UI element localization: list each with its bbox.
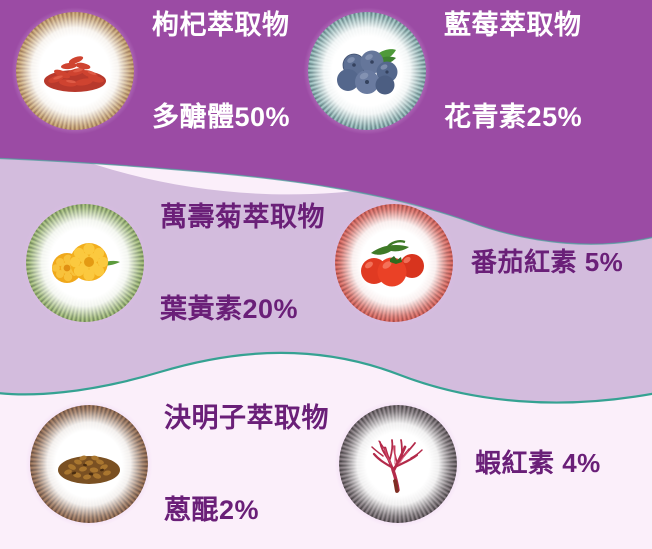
medallion-ring [339, 405, 457, 523]
ingredient-label-tomato: 番茄紅素 5% [471, 190, 623, 337]
blueberry-cluster-graphic [330, 41, 404, 101]
blueberries-icon [308, 12, 426, 130]
tomato-cluster-graphic [357, 233, 431, 293]
label-line-2: 花青素25% [444, 102, 582, 133]
goji-berries-icon [16, 12, 134, 130]
medallion-ring [308, 12, 426, 130]
label-line-2: 葉黃素20% [160, 294, 325, 325]
label-line-1: 枸杞萃取物 [152, 10, 290, 41]
ingredient-item-blueberry[interactable]: 藍莓萃取物 花青素25% [308, 0, 582, 193]
cassia-seed-pile-graphic [52, 434, 126, 494]
ingredient-label-blueberry: 藍莓萃取物 花青素25% [444, 0, 582, 193]
ingredient-label-cassia: 決明子萃取物 蒽醌2% [164, 342, 329, 549]
tomatoes-icon [335, 204, 453, 322]
label-line-2: 多醣體50% [152, 102, 290, 133]
medallion-ring [30, 405, 148, 523]
ingredient-infographic: 枸杞萃取物 多醣體50% [0, 0, 652, 549]
ingredient-label-astaxanthin: 蝦紅素 4% [475, 391, 601, 538]
cassia-seeds-icon [30, 405, 148, 523]
label-line-1: 蝦紅素 4% [475, 449, 601, 478]
label-line-2: 蒽醌2% [164, 495, 329, 526]
ingredient-item-tomato[interactable]: 番茄紅素 5% [335, 190, 623, 337]
medallion-ring [335, 204, 453, 322]
label-line-1: 藍莓萃取物 [444, 10, 582, 41]
medallion-ring [16, 12, 134, 130]
ingredient-item-astaxanthin[interactable]: 蝦紅素 4% [339, 391, 601, 538]
red-algae-icon [339, 405, 457, 523]
red-seaweed-graphic [361, 434, 435, 494]
medallion-ring [26, 204, 144, 322]
goji-pile-graphic [38, 41, 112, 101]
label-line-1: 番茄紅素 5% [471, 248, 623, 277]
ingredient-item-cassia[interactable]: 決明子萃取物 蒽醌2% [30, 342, 329, 549]
marigold-graphic [48, 233, 122, 293]
label-line-1: 萬壽菊萃取物 [160, 202, 325, 233]
marigold-flowers-icon [26, 204, 144, 322]
label-line-1: 決明子萃取物 [164, 403, 329, 434]
